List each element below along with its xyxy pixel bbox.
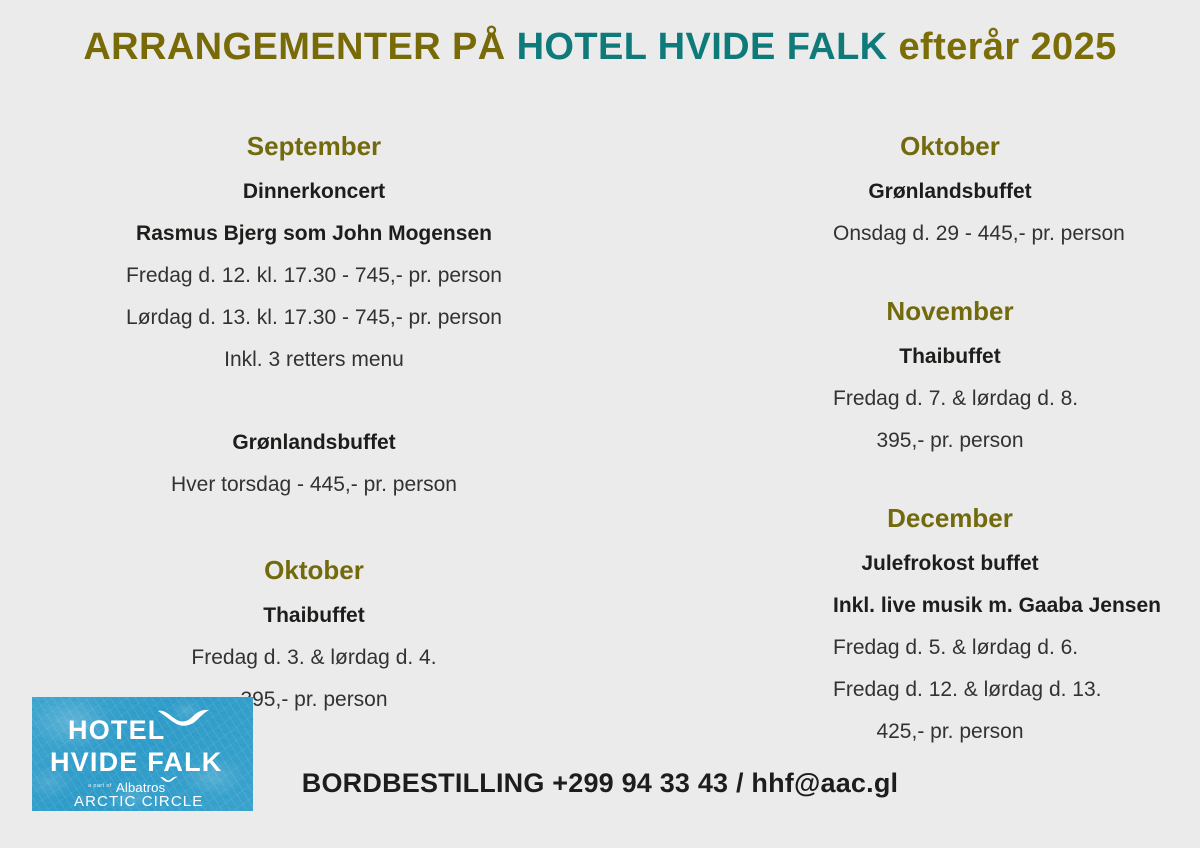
block-spacer [833, 472, 1067, 505]
event-detail: Fredag d. 12. & lørdag d. 13. [833, 679, 1067, 700]
seagull-icon [157, 708, 215, 728]
hotel-hvide-falk-logo: HOTEL HVIDE FALK a part of Albatros ARCT… [32, 697, 253, 811]
event-detail: 425,- pr. person [833, 721, 1067, 742]
booking-contact-line: BORDBESTILLING +299 94 33 43 / hhf@aac.g… [265, 768, 935, 799]
month-heading: Oktober [833, 133, 1067, 159]
event-detail: Fredag d. 3. & lørdag d. 4. [28, 647, 600, 668]
events-columns: September Dinnerkoncert Rasmus Bjerg som… [0, 133, 1200, 763]
left-column: September Dinnerkoncert Rasmus Bjerg som… [0, 133, 600, 763]
block-spacer [28, 516, 600, 557]
logo-sub-brand-arctic-circle: ARCTIC CIRCLE [74, 794, 203, 809]
title-segment-arrangementer: ARRANGEMENTER PÅ [83, 26, 516, 68]
event-detail: Onsdag d. 29 - 445,- pr. person [833, 223, 1067, 244]
event-detail: Fredag d. 12. kl. 17.30 - 745,- pr. pers… [28, 265, 600, 286]
event-block-december: December Julefrokost buffet Inkl. live m… [833, 505, 1067, 742]
logo-part-of-label: a part of [88, 784, 112, 790]
event-title: Thaibuffet [28, 605, 600, 626]
event-title: Julefrokost buffet [833, 553, 1067, 574]
event-title: Grønlandsbuffet [28, 432, 600, 453]
logo-line-hvide-falk: HVIDE FALK [50, 749, 223, 776]
event-detail: Fredag d. 5. & lørdag d. 6. [833, 637, 1067, 658]
month-heading: November [833, 298, 1067, 324]
month-heading: September [28, 133, 600, 159]
logo-line-hotel: HOTEL [68, 717, 166, 744]
event-title: Dinnerkoncert [28, 181, 600, 202]
event-detail: 395,- pr. person [833, 430, 1067, 451]
block-spacer [28, 391, 600, 432]
event-subtitle: Rasmus Bjerg som John Mogensen [28, 223, 600, 244]
event-block-september: September Dinnerkoncert Rasmus Bjerg som… [28, 133, 600, 370]
event-detail: Inkl. 3 retters menu [28, 349, 600, 370]
event-detail: Hver torsdag - 445,- pr. person [28, 474, 600, 495]
month-heading: December [833, 505, 1067, 531]
event-subtitle: Inkl. live musik m. Gaaba Jensen [833, 595, 1067, 616]
title-segment-hotel-hvide-falk: HOTEL HVIDE FALK [517, 26, 899, 68]
title-segment-efteraar: efterår 2025 [898, 26, 1116, 68]
event-block-november: November Thaibuffet Fredag d. 7. & lørda… [833, 298, 1067, 451]
event-block-groenlandsbuffet: Grønlandsbuffet Hver torsdag - 445,- pr.… [28, 432, 600, 495]
event-title: Grønlandsbuffet [833, 181, 1067, 202]
block-spacer [833, 265, 1067, 298]
logo-content: HOTEL HVIDE FALK a part of Albatros ARCT… [32, 697, 253, 811]
event-block-oktober-right: Oktober Grønlandsbuffet Onsdag d. 29 - 4… [833, 133, 1067, 244]
event-detail: Lørdag d. 13. kl. 17.30 - 745,- pr. pers… [28, 307, 600, 328]
albatros-bird-icon [160, 776, 178, 783]
page-title: ARRANGEMENTER PÅ HOTEL HVIDE FALK efterå… [0, 26, 1200, 70]
event-block-oktober: Oktober Thaibuffet Fredag d. 3. & lørdag… [28, 557, 600, 710]
right-column: Oktober Grønlandsbuffet Onsdag d. 29 - 4… [600, 133, 1200, 763]
event-detail: Fredag d. 7. & lørdag d. 8. [833, 388, 1067, 409]
event-title: Thaibuffet [833, 346, 1067, 367]
month-heading: Oktober [28, 557, 600, 583]
